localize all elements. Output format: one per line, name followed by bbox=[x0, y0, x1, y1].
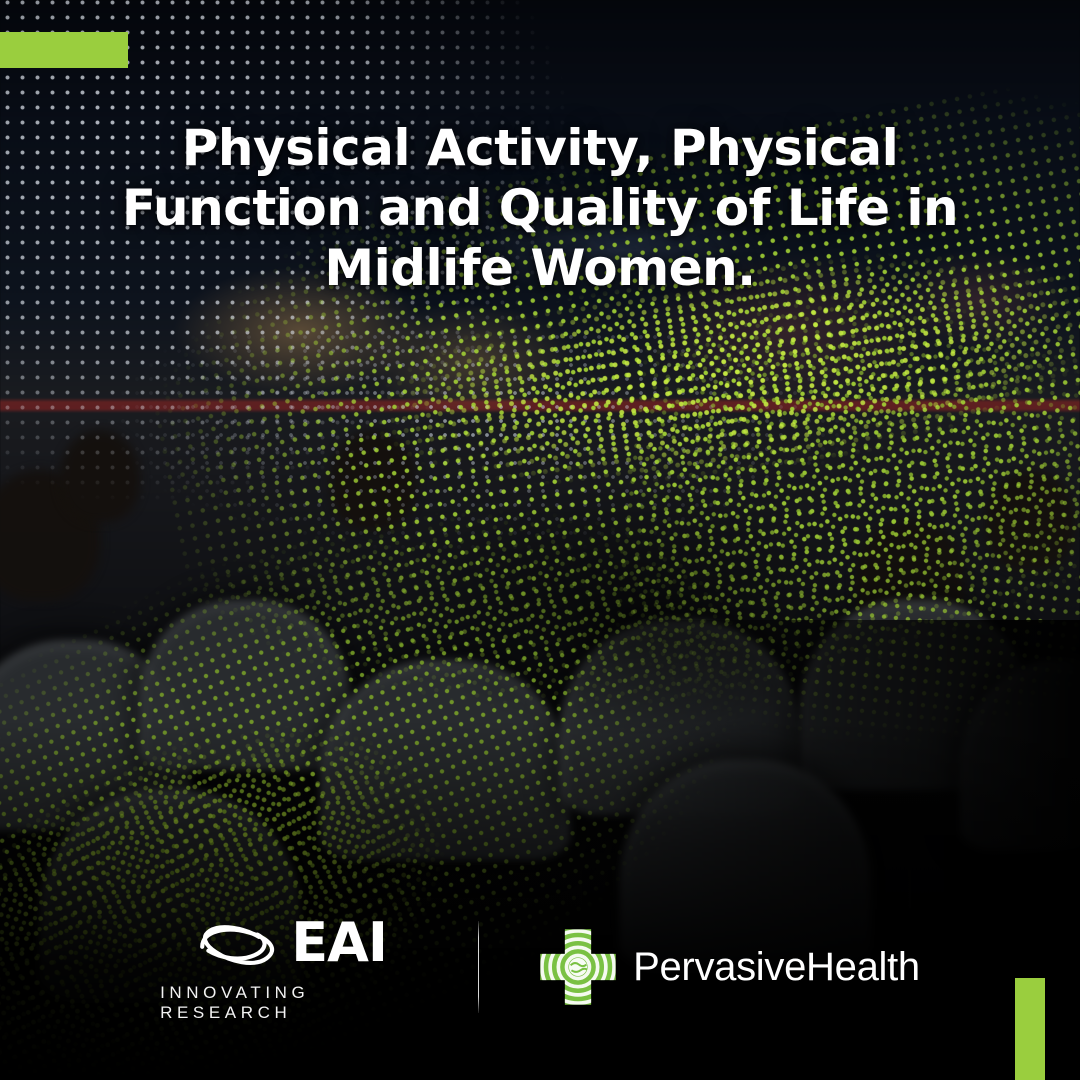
eai-tagline: INNOVATING RESEARCH bbox=[160, 983, 420, 1023]
eai-wordmark: EAI bbox=[291, 916, 387, 970]
title-line-1: Physical Activity, Physical bbox=[182, 119, 899, 177]
footer-logo-bar: EAI INNOVATING RESEARCH bbox=[0, 912, 1080, 1022]
title-block: Physical Activity, Physical Function and… bbox=[90, 118, 990, 298]
accent-bar-top-left bbox=[0, 32, 128, 68]
logo-divider bbox=[478, 921, 479, 1013]
pervasive-health-wordmark: PervasiveHealth bbox=[633, 945, 920, 990]
infinity-loop-icon bbox=[193, 915, 285, 971]
eai-logo-row: EAI bbox=[193, 912, 387, 974]
page-title: Physical Activity, Physical Function and… bbox=[90, 118, 990, 298]
promo-card: Physical Activity, Physical Function and… bbox=[0, 0, 1080, 1080]
pervasive-health-logo: PervasiveHealth bbox=[537, 926, 920, 1008]
green-cross-signal-icon bbox=[537, 926, 619, 1008]
title-line-2: Function and Quality of Life in bbox=[122, 179, 958, 237]
eai-logo: EAI INNOVATING RESEARCH bbox=[160, 912, 420, 1023]
title-line-3: Midlife Women. bbox=[324, 239, 755, 297]
